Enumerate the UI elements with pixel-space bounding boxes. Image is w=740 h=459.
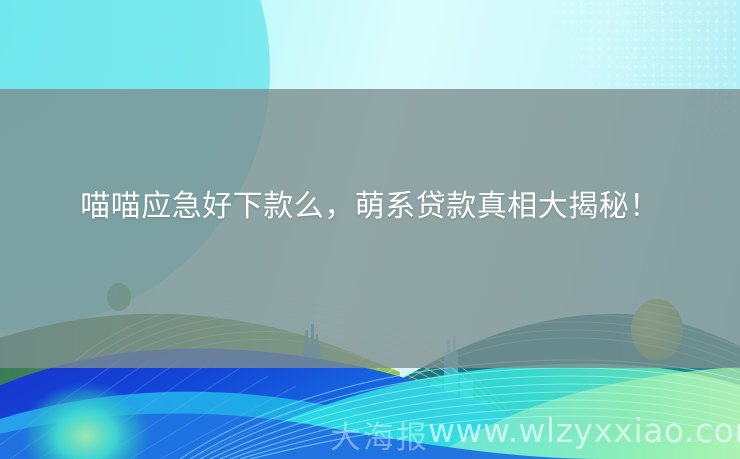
grey-overlay-band — [0, 89, 740, 368]
headline-text: 喵喵应急好下款么，萌系贷款真相大揭秘！ — [80, 186, 660, 228]
poster-banner: 喵喵应急好下款么，萌系贷款真相大揭秘！ 大海报 www.wlzyxxiao.co… — [0, 0, 740, 459]
page-title: 喵喵应急好下款么，萌系贷款真相大揭秘！ — [0, 186, 740, 228]
